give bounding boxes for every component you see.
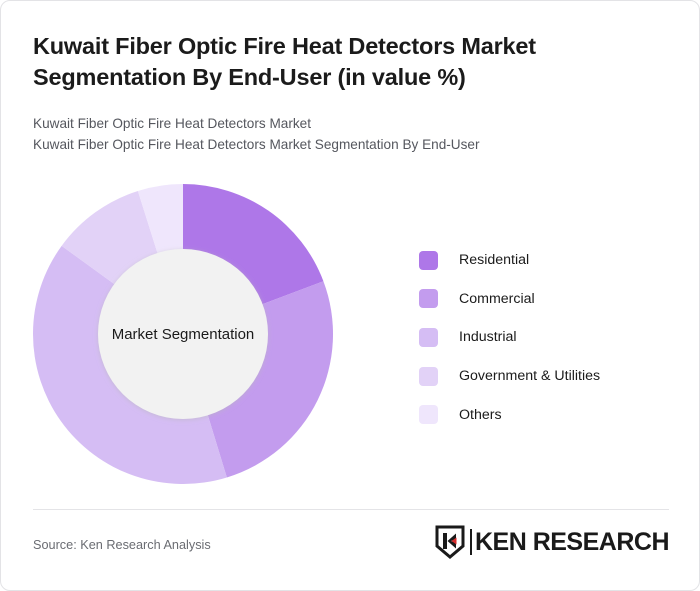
donut-svg	[33, 184, 333, 484]
legend-label: Residential	[459, 252, 529, 268]
legend-swatch-icon	[419, 405, 438, 424]
donut-chart: Market Segmentation	[33, 184, 333, 484]
legend-item[interactable]: Government & Utilities	[419, 357, 679, 396]
legend-swatch-icon	[419, 289, 438, 308]
legend-item[interactable]: Others	[419, 395, 679, 434]
legend-label: Industrial	[459, 329, 517, 345]
chart-legend: ResidentialCommercialIndustrialGovernmen…	[419, 241, 679, 434]
legend-item[interactable]: Industrial	[419, 318, 679, 357]
ken-research-shield-icon	[435, 525, 465, 559]
chart-area: Market Segmentation ResidentialCommercia…	[1, 161, 700, 496]
ken-research-logo: KEN RESEARCH	[435, 525, 669, 559]
donut-hole	[98, 249, 268, 419]
logo-wordmark: KEN RESEARCH	[475, 528, 669, 557]
legend-label: Commercial	[459, 291, 535, 307]
footer-divider	[33, 509, 669, 510]
subtitle-line-2: Kuwait Fiber Optic Fire Heat Detectors M…	[33, 134, 653, 155]
legend-label: Government & Utilities	[459, 368, 600, 384]
legend-swatch-icon	[419, 251, 438, 270]
legend-item[interactable]: Commercial	[419, 280, 679, 319]
legend-item[interactable]: Residential	[419, 241, 679, 280]
source-note: Source: Ken Research Analysis	[33, 538, 211, 552]
page-title: Kuwait Fiber Optic Fire Heat Detectors M…	[33, 31, 633, 93]
subtitle-line-1: Kuwait Fiber Optic Fire Heat Detectors M…	[33, 113, 653, 134]
legend-label: Others	[459, 407, 502, 423]
logo-separator	[470, 529, 472, 555]
chart-card: Kuwait Fiber Optic Fire Heat Detectors M…	[0, 0, 700, 591]
legend-swatch-icon	[419, 328, 438, 347]
chart-subtitle: Kuwait Fiber Optic Fire Heat Detectors M…	[33, 113, 653, 155]
legend-swatch-icon	[419, 367, 438, 386]
